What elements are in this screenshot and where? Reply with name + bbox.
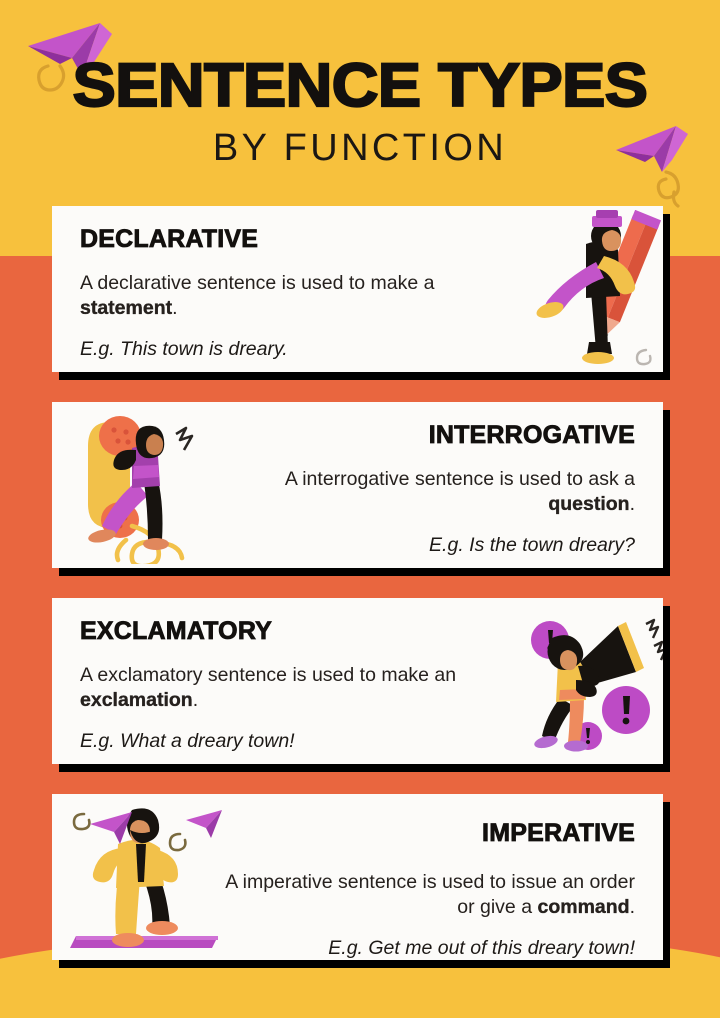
person-with-pencil-illustration [534, 210, 663, 370]
card-interrogative[interactable]: INTERROGATIVE A interrogative sentence i… [52, 402, 663, 568]
card-surface: IMPERATIVE A imperative sentence is used… [52, 794, 663, 960]
card-example: E.g. What a dreary town! [80, 729, 500, 754]
card-declarative[interactable]: DECLARATIVE A declarative sentence is us… [52, 206, 663, 372]
card-body-after: . [193, 689, 198, 711]
card-body: A exclamatory sentence is used to make a… [80, 663, 500, 713]
card-heading: INTERROGATIVE [215, 420, 635, 450]
card-example: E.g. Is the town dreary? [215, 533, 635, 558]
card-declarative-text: DECLARATIVE A declarative sentence is us… [80, 224, 500, 362]
card-surface: INTERROGATIVE A interrogative sentence i… [52, 402, 663, 568]
card-body-keyword: command [537, 896, 629, 918]
card-surface: EXCLAMATORY A exclamatory sentence is us… [52, 598, 663, 764]
card-heading: DECLARATIVE [80, 224, 500, 254]
card-imperative[interactable]: IMPERATIVE A imperative sentence is used… [52, 794, 663, 960]
card-surface: DECLARATIVE A declarative sentence is us… [52, 206, 663, 372]
poster-canvas: SENTENCE TYPES BY FUNCTION [0, 0, 720, 1018]
card-example: E.g. Get me out of this dreary town! [205, 936, 635, 960]
card-body-keyword: statement [80, 297, 172, 319]
card-body-after: . [172, 297, 177, 319]
card-body-after: . [630, 896, 635, 918]
card-example: E.g. This town is dreary. [80, 337, 500, 362]
card-body-keyword: exclamation [80, 689, 193, 711]
page-title: SENTENCE TYPES [0, 54, 720, 116]
card-heading: EXCLAMATORY [80, 616, 500, 646]
card-body: A interrogative sentence is used to ask … [215, 467, 635, 517]
card-exclamatory-text: EXCLAMATORY A exclamatory sentence is us… [80, 616, 500, 754]
card-exclamatory[interactable]: EXCLAMATORY A exclamatory sentence is us… [52, 598, 663, 764]
card-heading: IMPERATIVE [205, 818, 635, 848]
card-body-after: . [630, 493, 635, 515]
card-interrogative-text: INTERROGATIVE A interrogative sentence i… [215, 420, 635, 558]
card-imperative-text: IMPERATIVE A imperative sentence is used… [205, 818, 635, 960]
card-body: A imperative sentence is used to issue a… [205, 870, 635, 920]
card-body-before: A interrogative sentence is used to ask … [285, 468, 635, 490]
card-body-keyword: question [548, 493, 629, 515]
card-body-before: A exclamatory sentence is used to make a… [80, 664, 456, 686]
card-body-before: A declarative sentence is used to make a [80, 272, 434, 294]
person-with-megaphone-illustration [526, 606, 663, 758]
page-subtitle: BY FUNCTION [0, 126, 720, 170]
card-body: A declarative sentence is used to make a… [80, 271, 500, 321]
